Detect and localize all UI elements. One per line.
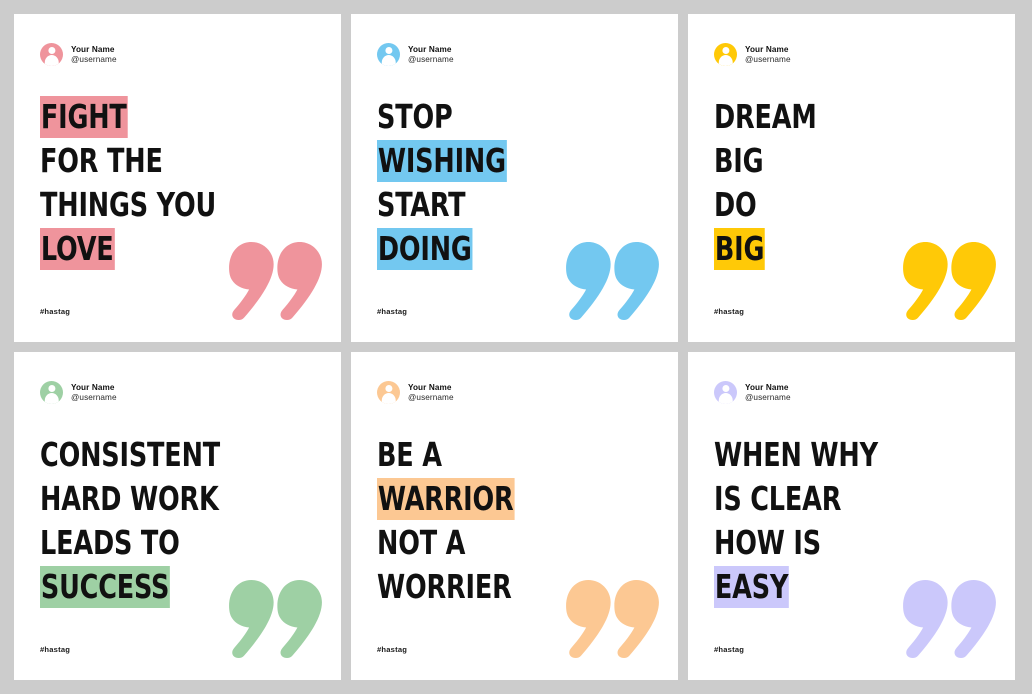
quote-line: DREAM [714,95,957,139]
profile-display-name: Your Name [408,45,454,55]
profile-handle: @username [71,55,117,65]
quote-line: BIG [714,139,957,183]
quote-line: DO [714,183,957,227]
quote-line-text: IS CLEAR [714,479,841,518]
profile-handle: @username [71,393,117,403]
card-profile-header: Your Name@username [377,43,454,66]
quote-line: WHEN WHY [714,433,957,477]
quote-line-text: WORRIER [377,567,512,606]
quote-line: BE A [377,433,620,477]
hashtag-label: #hastag [714,307,744,316]
profile-names: Your Name@username [408,383,454,402]
quote-card[interactable]: Your Name@usernameSTOPWISHINGSTARTDOING#… [351,14,678,342]
hashtag-label: #hastag [377,645,407,654]
quote-line-text: BIG [714,141,763,180]
hashtag-label: #hastag [377,307,407,316]
quote-line: FIGHT [40,95,283,139]
profile-names: Your Name@username [71,383,117,402]
avatar-body-shape [44,55,59,66]
quote-line: START [377,183,620,227]
closing-quote-icon [565,242,660,320]
quote-line-text: THINGS YOU [40,185,216,224]
quote-line-text: HOW IS [714,523,821,562]
card-profile-header: Your Name@username [40,381,117,404]
hashtag-label: #hastag [40,645,70,654]
quote-line-highlighted-text: FIGHT [40,96,128,138]
avatar-head-shape [48,385,55,392]
avatar-head-shape [722,385,729,392]
quote-line-text: DREAM [714,97,817,136]
profile-display-name: Your Name [745,45,791,55]
quote-line-highlighted-text: BIG [714,228,765,270]
avatar-head-shape [722,47,729,54]
user-avatar-icon [714,43,737,66]
profile-display-name: Your Name [71,383,117,393]
quote-line-highlighted-text: SUCCESS [40,566,170,608]
quote-line: HOW IS [714,521,957,565]
quote-card[interactable]: Your Name@usernameCONSISTENTHARD WORKLEA… [14,352,341,680]
card-profile-header: Your Name@username [714,381,791,404]
avatar-head-shape [385,385,392,392]
quote-line-text: STOP [377,97,453,136]
quote-line: IS CLEAR [714,477,957,521]
quote-line-highlighted-text: EASY [714,566,789,608]
closing-quote-icon [565,580,660,658]
profile-handle: @username [745,55,791,65]
quote-line-text: WHEN WHY [714,435,878,474]
quote-line-text: HARD WORK [40,479,219,518]
quote-card-grid: Your Name@usernameFIGHTFOR THETHINGS YOU… [0,0,1032,694]
profile-display-name: Your Name [71,45,117,55]
quote-line-text: BE A [377,435,442,474]
quote-card[interactable]: Your Name@usernameBE AWARRIORNOT AWORRIE… [351,352,678,680]
user-avatar-icon [714,381,737,404]
avatar-body-shape [381,393,396,404]
closing-quote-icon [228,580,323,658]
avatar-body-shape [718,55,733,66]
quote-card[interactable]: Your Name@usernameWHEN WHYIS CLEARHOW IS… [688,352,1015,680]
card-profile-header: Your Name@username [40,43,117,66]
quote-line: STOP [377,95,620,139]
quote-line-text: LEADS TO [40,523,180,562]
closing-quote-icon [902,580,997,658]
quote-line: LEADS TO [40,521,283,565]
quote-line: CONSISTENT [40,433,283,477]
quote-line: FOR THE [40,139,283,183]
avatar-body-shape [718,393,733,404]
quote-line: THINGS YOU [40,183,283,227]
quote-line: HARD WORK [40,477,283,521]
quote-line-highlighted-text: LOVE [40,228,114,270]
avatar-body-shape [44,393,59,404]
closing-quote-icon [902,242,997,320]
avatar-head-shape [385,47,392,54]
profile-handle: @username [408,393,454,403]
avatar-body-shape [381,55,396,66]
user-avatar-icon [40,381,63,404]
quote-line: WISHING [377,139,620,183]
quote-line-text: DO [714,185,757,224]
hashtag-label: #hastag [714,645,744,654]
hashtag-label: #hastag [40,307,70,316]
quote-card[interactable]: Your Name@usernameFIGHTFOR THETHINGS YOU… [14,14,341,342]
avatar-head-shape [48,47,55,54]
user-avatar-icon [377,43,400,66]
card-profile-header: Your Name@username [714,43,791,66]
profile-names: Your Name@username [745,383,791,402]
quote-line: NOT A [377,521,620,565]
profile-names: Your Name@username [71,45,117,64]
closing-quote-icon [228,242,323,320]
user-avatar-icon [40,43,63,66]
profile-handle: @username [745,393,791,403]
quote-line-highlighted-text: DOING [377,228,473,270]
quote-line-text: FOR THE [40,141,163,180]
profile-names: Your Name@username [408,45,454,64]
profile-handle: @username [408,55,454,65]
user-avatar-icon [377,381,400,404]
quote-card[interactable]: Your Name@usernameDREAMBIGDOBIG#hastag [688,14,1015,342]
card-profile-header: Your Name@username [377,381,454,404]
quote-line: WARRIOR [377,477,620,521]
quote-line-text: CONSISTENT [40,435,220,474]
quote-line-highlighted-text: WISHING [377,140,507,182]
profile-names: Your Name@username [745,45,791,64]
profile-display-name: Your Name [408,383,454,393]
profile-display-name: Your Name [745,383,791,393]
quote-line-text: NOT A [377,523,465,562]
quote-line-highlighted-text: WARRIOR [377,478,514,520]
quote-line-text: START [377,185,465,224]
